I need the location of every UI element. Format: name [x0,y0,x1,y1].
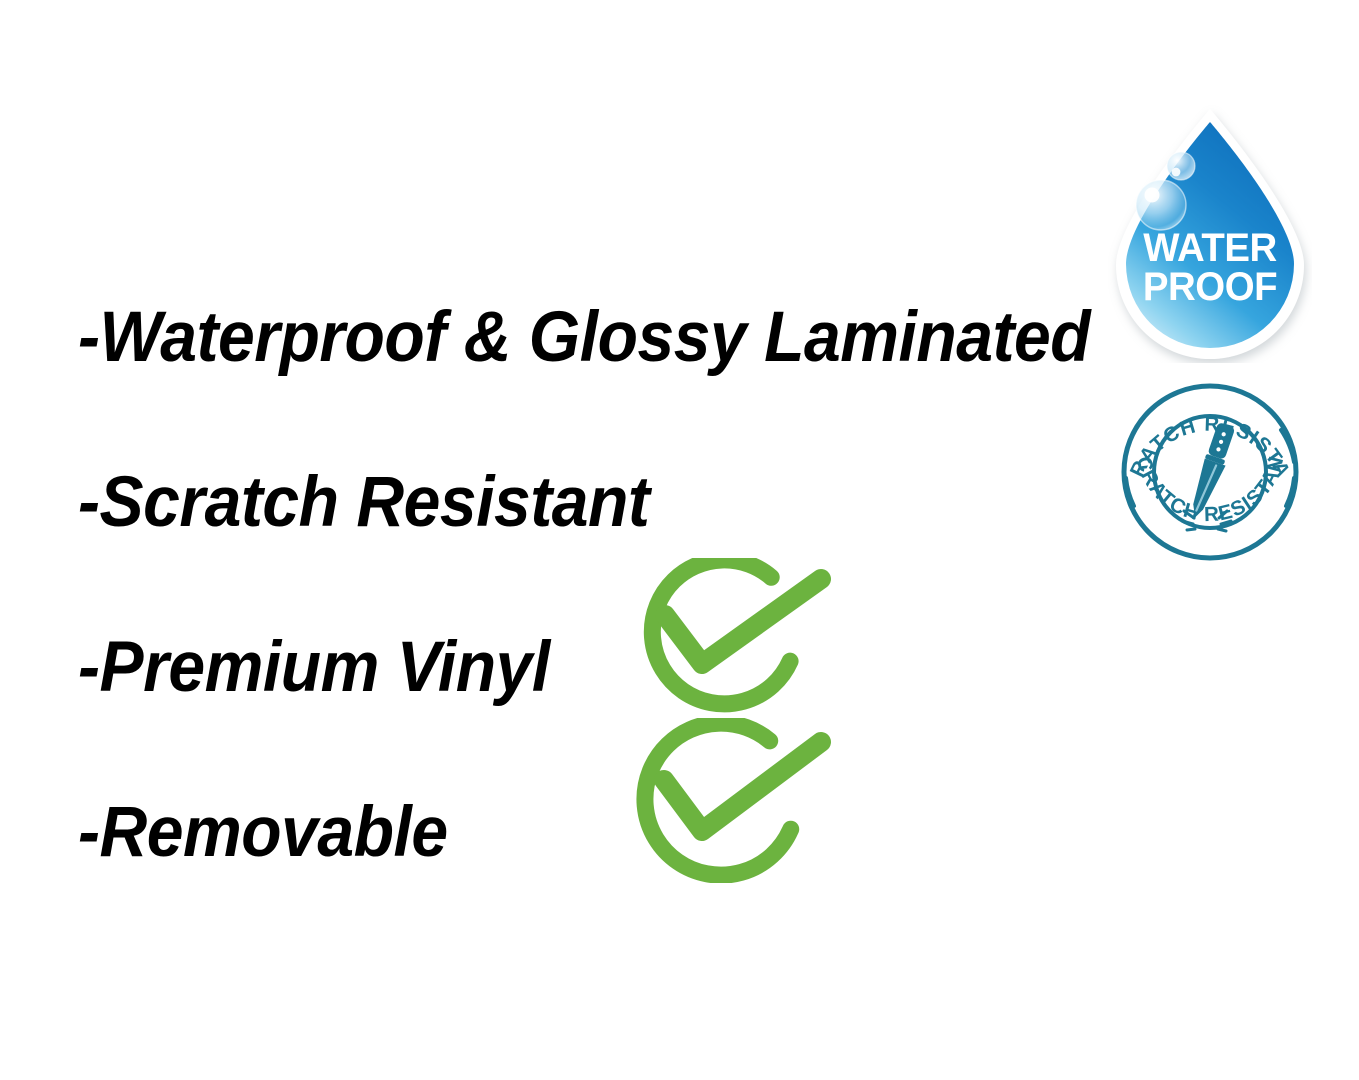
feature-label-scratch-resistant: -Scratch Resistant [78,467,649,538]
feature-label-waterproof: -Waterproof & Glossy Laminated [78,302,1090,373]
check-icon-premium-vinyl [635,558,840,713]
feature-item-waterproof: -Waterproof & Glossy Laminated [78,255,1098,420]
feature-item-premium-vinyl: -Premium Vinyl [78,585,1098,750]
feature-item-scratch-resistant: -Scratch Resistant [78,420,1098,585]
feature-label-removable: -Removable [78,797,448,868]
feature-label-premium-vinyl: -Premium Vinyl [78,632,550,703]
feature-graphic-canvas: -Waterproof & Glossy Laminated -Scratch … [0,0,1359,1080]
feature-item-removable: -Removable [78,750,1098,915]
waterproof-drop-badge: WATER PROOF [1108,105,1312,363]
feature-list: -Waterproof & Glossy Laminated -Scratch … [78,255,1098,915]
check-icon-removable [632,718,837,883]
scratch-resistant-stamp: SCRATCH RESISTANT SCRATCH RESISTANT [1114,382,1306,562]
